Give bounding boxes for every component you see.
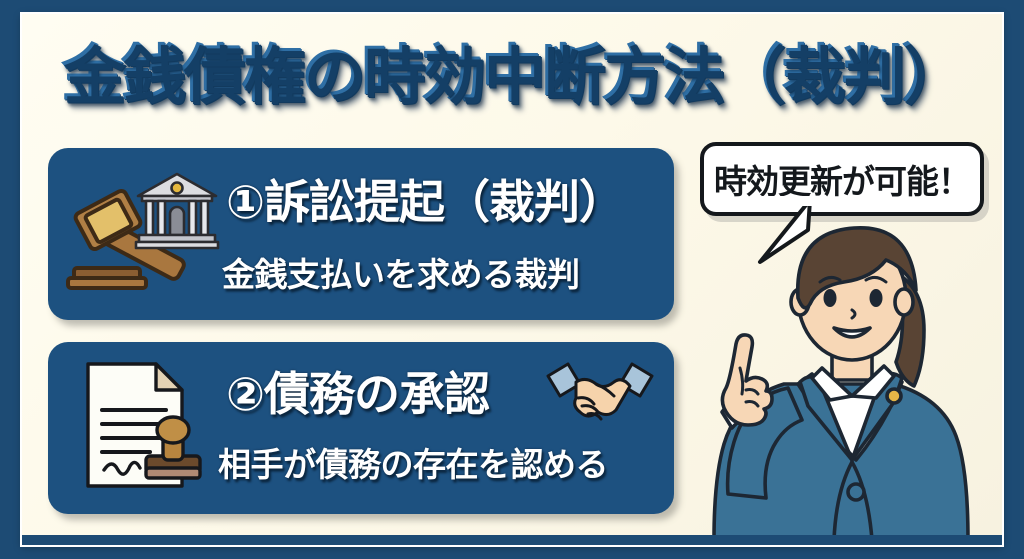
page-title: 金銭債権の時効中断方法（裁判） bbox=[0, 24, 1024, 114]
speech-bubble-text: 時効更新が可能！ bbox=[704, 146, 980, 212]
bottom-frame-strip bbox=[22, 535, 1002, 545]
document-stamp-icon bbox=[78, 358, 208, 493]
handshake-icon bbox=[546, 358, 654, 430]
card-1-title: ①訴訟提起（裁判） bbox=[226, 166, 624, 232]
infographic-canvas: 金銭債権の時効中断方法（裁判） bbox=[0, 0, 1024, 559]
card-2-title: ②債務の承認 bbox=[226, 358, 489, 424]
card-1-subtitle: 金銭支払いを求める裁判 bbox=[222, 248, 580, 296]
card-2-subtitle: 相手が債務の存在を認める bbox=[218, 438, 608, 486]
speech-bubble: 時効更新が可能！ bbox=[700, 142, 984, 216]
pointing-businesswoman-illustration bbox=[676, 216, 1006, 540]
courthouse-icon bbox=[134, 168, 220, 254]
